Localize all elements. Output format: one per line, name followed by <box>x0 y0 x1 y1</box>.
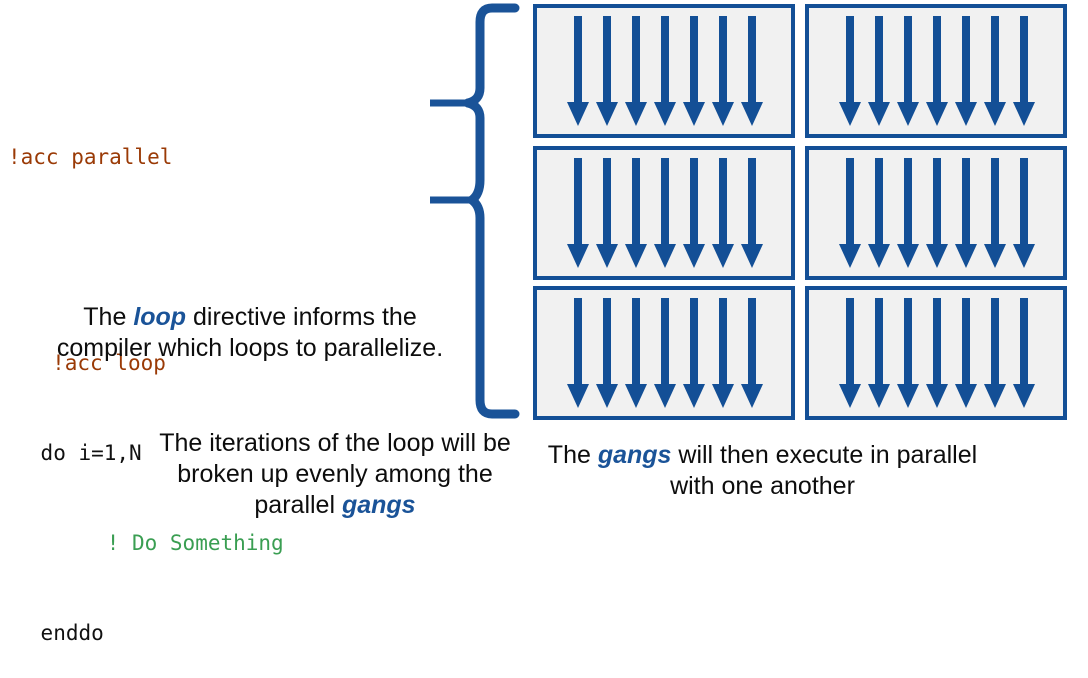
arrow-shaft <box>603 298 611 386</box>
down-arrow-icon <box>839 158 861 268</box>
arrow-head <box>955 244 977 268</box>
arrow-head <box>955 102 977 126</box>
arrow-strip <box>567 16 763 126</box>
arrow-shaft <box>574 16 582 104</box>
arrow-head <box>741 384 763 408</box>
down-arrow-icon <box>868 298 890 408</box>
arrow-head <box>596 384 618 408</box>
caption-loop-before: The <box>83 303 133 331</box>
down-arrow-icon <box>596 298 618 408</box>
arrow-shaft <box>661 158 669 246</box>
arrow-shaft <box>904 158 912 246</box>
down-arrow-icon <box>654 298 676 408</box>
arrow-shaft <box>632 298 640 386</box>
arrow-head <box>839 384 861 408</box>
arrow-shaft <box>875 298 883 386</box>
arrow-head <box>741 102 763 126</box>
gang-box <box>805 4 1067 138</box>
down-arrow-icon <box>984 16 1006 126</box>
caption-iterations-before: The iterations of the loop will be broke… <box>159 429 511 519</box>
arrow-shaft <box>875 16 883 104</box>
arrow-head <box>596 102 618 126</box>
gang-grid <box>533 4 1067 420</box>
arrow-shaft <box>1020 16 1028 104</box>
arrow-head <box>712 244 734 268</box>
arrow-shaft <box>1020 298 1028 386</box>
down-arrow-icon <box>712 298 734 408</box>
brace-lower-bottom-segment <box>480 270 515 414</box>
gang-box <box>805 286 1067 420</box>
arrow-shaft <box>904 298 912 386</box>
arrow-head <box>654 244 676 268</box>
arrow-head <box>926 102 948 126</box>
brace-svg <box>430 0 530 430</box>
down-arrow-icon <box>926 16 948 126</box>
arrow-shaft <box>991 158 999 246</box>
down-arrow-icon <box>625 16 647 126</box>
down-arrow-icon <box>955 298 977 408</box>
arrow-head <box>654 384 676 408</box>
down-arrow-icon <box>984 298 1006 408</box>
down-arrow-icon <box>712 158 734 268</box>
arrow-head <box>567 244 589 268</box>
down-arrow-icon <box>984 158 1006 268</box>
caption-gangs-execute: The gangs will then execute in parallel … <box>540 440 985 502</box>
arrow-shaft <box>748 298 756 386</box>
arrow-head <box>741 244 763 268</box>
arrow-shaft <box>846 16 854 104</box>
arrow-shaft <box>603 16 611 104</box>
arrow-head <box>984 384 1006 408</box>
arrow-head <box>839 102 861 126</box>
code-blank-line <box>8 232 438 288</box>
arrow-shaft <box>904 16 912 104</box>
arrow-head <box>868 244 890 268</box>
arrow-head <box>926 244 948 268</box>
arrow-shaft <box>933 158 941 246</box>
arrow-head <box>1013 384 1035 408</box>
down-arrow-icon <box>926 298 948 408</box>
arrow-shaft <box>632 16 640 104</box>
caption-gangs-after: will then execute in parallel with one a… <box>670 441 977 500</box>
arrow-shaft <box>846 298 854 386</box>
arrow-strip <box>839 16 1035 126</box>
down-arrow-icon <box>868 16 890 126</box>
down-arrow-icon <box>955 158 977 268</box>
down-arrow-icon <box>741 16 763 126</box>
down-arrow-icon <box>897 298 919 408</box>
code-sample: !acc parallel !acc loop do i=1,N ! Do So… <box>8 82 438 678</box>
arrow-head <box>984 244 1006 268</box>
arrow-shaft <box>933 16 941 104</box>
down-arrow-icon <box>567 298 589 408</box>
gang-box <box>533 146 795 280</box>
arrow-head <box>625 384 647 408</box>
code-line-enddo: enddo <box>8 618 438 648</box>
brace-upper-top-segment <box>468 8 515 103</box>
arrow-head <box>897 102 919 126</box>
arrow-shaft <box>846 158 854 246</box>
down-arrow-icon <box>654 16 676 126</box>
down-arrow-icon <box>683 158 705 268</box>
keyword-gangs-iterations: gangs <box>342 491 416 519</box>
down-arrow-icon <box>897 16 919 126</box>
gang-box <box>805 146 1067 280</box>
arrow-shaft <box>719 16 727 104</box>
arrow-head <box>567 384 589 408</box>
arrow-shaft <box>690 16 698 104</box>
arrow-shaft <box>748 158 756 246</box>
arrow-head <box>596 244 618 268</box>
down-arrow-icon <box>712 16 734 126</box>
arrow-shaft <box>719 298 727 386</box>
arrow-head <box>625 244 647 268</box>
arrow-shaft <box>661 16 669 104</box>
caption-loop-directive: The loop directive informs the compiler … <box>40 302 460 364</box>
arrow-head <box>897 384 919 408</box>
arrow-shaft <box>748 16 756 104</box>
down-arrow-icon <box>926 158 948 268</box>
arrow-head <box>868 384 890 408</box>
arrow-strip <box>839 298 1035 408</box>
down-arrow-icon <box>625 158 647 268</box>
down-arrow-icon <box>955 16 977 126</box>
down-arrow-icon <box>596 158 618 268</box>
arrow-shaft <box>875 158 883 246</box>
keyword-loop: loop <box>133 303 186 331</box>
arrow-strip <box>839 158 1035 268</box>
keyword-gangs-execute: gangs <box>598 441 672 469</box>
code-line-acc-parallel: !acc parallel <box>8 142 438 172</box>
arrow-head <box>926 384 948 408</box>
down-arrow-icon <box>625 298 647 408</box>
down-arrow-icon <box>897 158 919 268</box>
arrow-shaft <box>661 298 669 386</box>
arrow-shaft <box>933 298 941 386</box>
down-arrow-icon <box>654 158 676 268</box>
arrow-shaft <box>719 158 727 246</box>
down-arrow-icon <box>1013 16 1035 126</box>
down-arrow-icon <box>868 158 890 268</box>
arrow-shaft <box>991 298 999 386</box>
down-arrow-icon <box>596 16 618 126</box>
arrow-shaft <box>632 158 640 246</box>
arrow-head <box>567 102 589 126</box>
left-curly-brace <box>430 0 530 430</box>
brace-lower-top-segment <box>472 200 480 270</box>
down-arrow-icon <box>741 298 763 408</box>
arrow-head <box>683 102 705 126</box>
down-arrow-icon <box>839 16 861 126</box>
down-arrow-icon <box>683 16 705 126</box>
arrow-shaft <box>574 298 582 386</box>
down-arrow-icon <box>1013 158 1035 268</box>
arrow-shaft <box>574 158 582 246</box>
arrow-head <box>984 102 1006 126</box>
arrow-shaft <box>603 158 611 246</box>
arrow-shaft <box>1020 158 1028 246</box>
arrow-head <box>654 102 676 126</box>
arrow-shaft <box>962 158 970 246</box>
down-arrow-icon <box>567 158 589 268</box>
arrow-strip <box>567 158 763 268</box>
arrow-head <box>1013 102 1035 126</box>
down-arrow-icon <box>839 298 861 408</box>
arrow-head <box>625 102 647 126</box>
arrow-head <box>1013 244 1035 268</box>
brace-upper-bottom-segment <box>468 103 480 200</box>
arrow-head <box>683 244 705 268</box>
gang-box <box>533 286 795 420</box>
arrow-head <box>868 102 890 126</box>
arrow-head <box>712 384 734 408</box>
arrow-head <box>839 244 861 268</box>
arrow-head <box>897 244 919 268</box>
down-arrow-icon <box>1013 298 1035 408</box>
arrow-head <box>683 384 705 408</box>
arrow-shaft <box>690 158 698 246</box>
arrow-shaft <box>962 298 970 386</box>
arrow-shaft <box>991 16 999 104</box>
arrow-strip <box>567 298 763 408</box>
caption-iterations: The iterations of the loop will be broke… <box>150 428 520 521</box>
down-arrow-icon <box>741 158 763 268</box>
arrow-head <box>712 102 734 126</box>
down-arrow-icon <box>567 16 589 126</box>
arrow-shaft <box>690 298 698 386</box>
caption-gangs-before: The <box>548 441 598 469</box>
arrow-head <box>955 384 977 408</box>
arrow-shaft <box>962 16 970 104</box>
down-arrow-icon <box>683 298 705 408</box>
gang-box <box>533 4 795 138</box>
